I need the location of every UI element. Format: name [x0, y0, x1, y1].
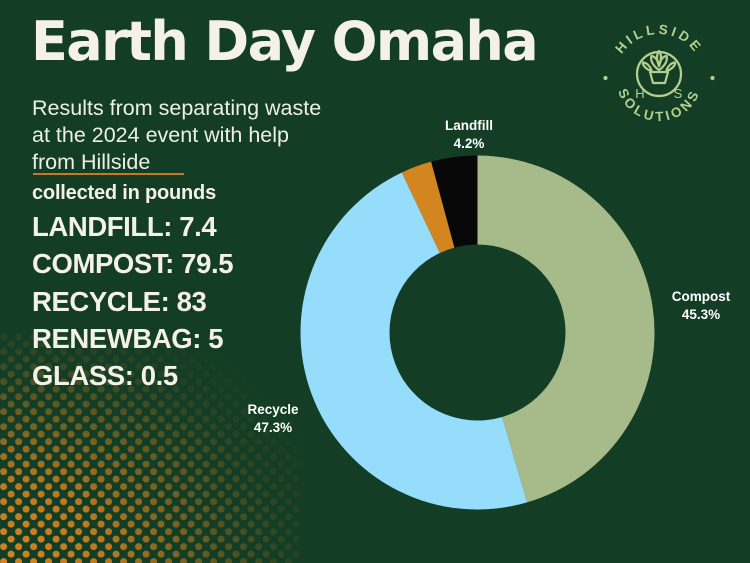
logo-dot-right	[710, 76, 714, 80]
chart-label-landfill-name: Landfill	[445, 118, 493, 133]
chart-label-landfill: Landfill 4.2%	[413, 117, 525, 153]
logo-dot-left	[603, 76, 607, 80]
orange-divider	[33, 173, 184, 175]
donut-slice-group	[300, 156, 654, 510]
chart-label-compost-name: Compost	[672, 289, 731, 304]
logo-bottom-text: SOLUTIONS	[615, 86, 703, 124]
infographic-poster: Earth Day Omaha Results from separating …	[0, 0, 750, 563]
chart-label-recycle-name: Recycle	[247, 402, 298, 417]
chart-label-compost-pct: 45.3%	[655, 306, 747, 324]
logo-letter-s: S	[674, 86, 683, 101]
subtitle-line-2: at the 2024 event with help	[32, 122, 382, 149]
hillside-solutions-logo: HILLSIDE SOLUTIONS H S	[595, 14, 723, 142]
chart-label-recycle: Recycle 47.3%	[223, 401, 323, 437]
logo-letter-h: H	[635, 86, 644, 101]
chart-label-compost: Compost 45.3%	[655, 288, 747, 324]
waste-donut-chart	[295, 150, 660, 515]
chart-label-recycle-pct: 47.3%	[223, 419, 323, 437]
subtitle-line-1: Results from separating waste	[32, 95, 382, 122]
page-title: Earth Day Omaha	[31, 14, 537, 70]
chart-label-landfill-pct: 4.2%	[413, 135, 525, 153]
